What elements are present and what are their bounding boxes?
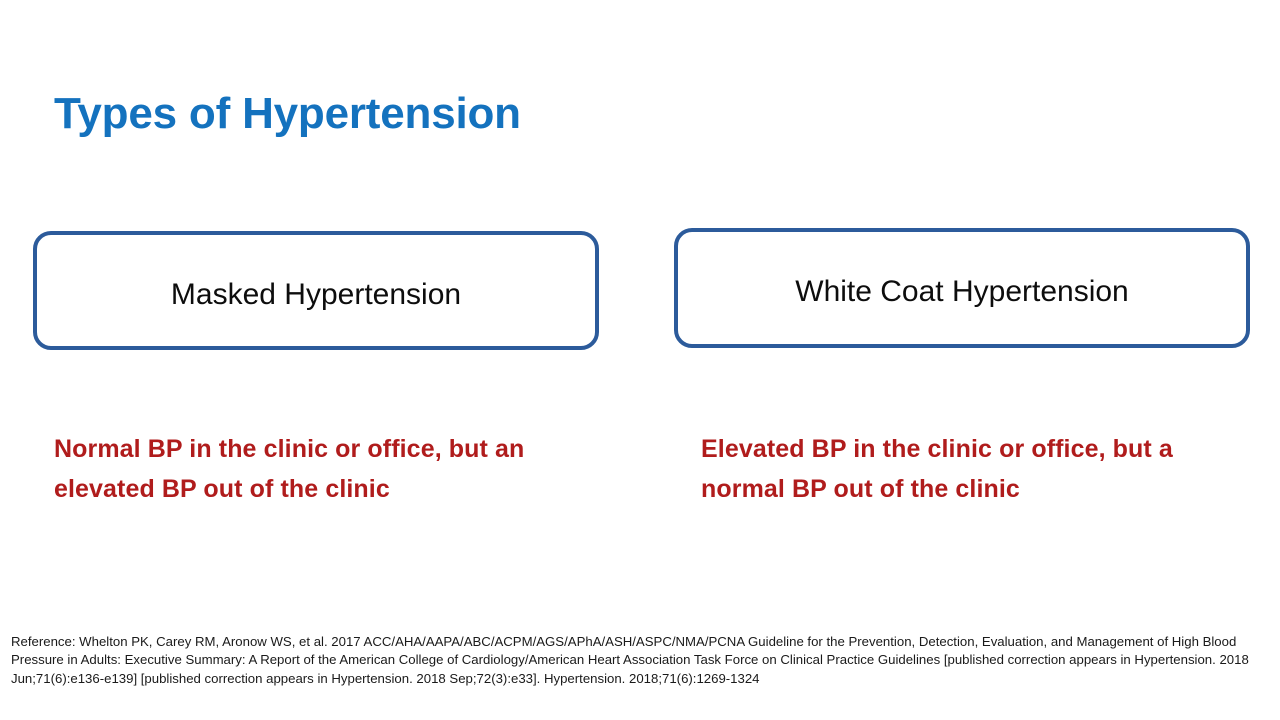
slide-canvas: Types of Hypertension Masked Hypertensio… (0, 0, 1280, 720)
reference-citation: Reference: Whelton PK, Carey RM, Aronow … (11, 633, 1273, 688)
concept-box-label: White Coat Hypertension (795, 274, 1129, 310)
concept-box-white-coat-hypertension[interactable]: White Coat Hypertension (674, 228, 1250, 348)
description-white-coat-hypertension: Elevated BP in the clinic or office, but… (701, 429, 1261, 509)
concept-box-masked-hypertension[interactable]: Masked Hypertension (33, 231, 599, 350)
concept-box-label: Masked Hypertension (171, 277, 461, 313)
page-title: Types of Hypertension (54, 87, 1234, 141)
description-masked-hypertension: Normal BP in the clinic or office, but a… (54, 429, 614, 509)
